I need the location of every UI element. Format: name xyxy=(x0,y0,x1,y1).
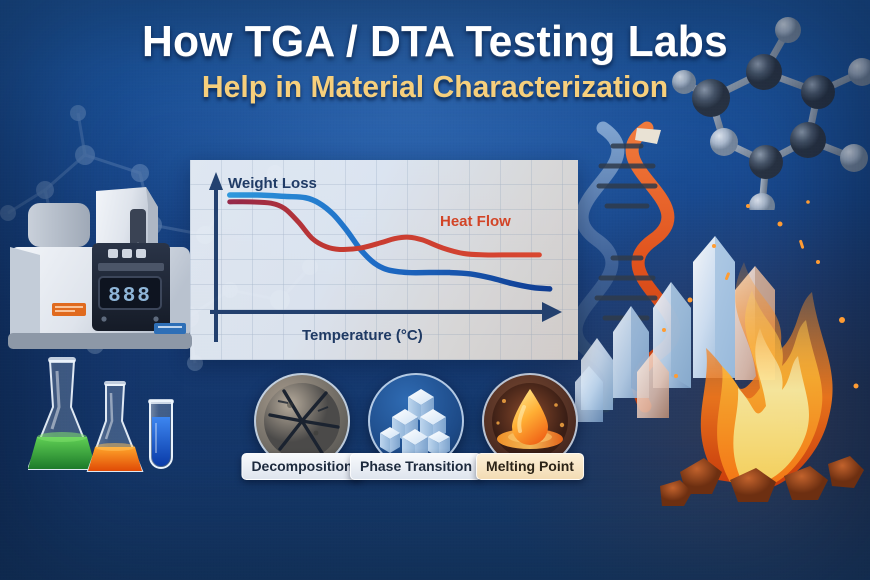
flame-burst-icon xyxy=(660,180,870,510)
badge-label-decomposition[interactable]: Decomposition xyxy=(241,453,362,480)
test-tube xyxy=(148,399,174,468)
x-axis-arrow xyxy=(210,302,562,322)
heat-flow-legend-label: Heat Flow xyxy=(440,213,511,230)
title-block: How TGA / DTA Testing Labs Help in Mater… xyxy=(0,20,870,103)
erlenmeyer-flask-small xyxy=(88,381,142,471)
page-subtitle: Help in Material Characterization xyxy=(13,71,857,104)
badge-label-phase-transition[interactable]: Phase Transition xyxy=(350,453,482,480)
chart-plot: Weight Loss Temperature (°C) Heat Flow xyxy=(190,160,578,360)
y-axis-label: Weight Loss xyxy=(228,175,317,192)
instrument-display-value: 888 xyxy=(108,285,152,308)
x-axis-label: Temperature (°C) xyxy=(302,327,423,344)
badge-decomposition[interactable]: Decomposition xyxy=(247,373,357,469)
infographic-banner: How TGA / DTA Testing Labs Help in Mater… xyxy=(0,0,870,580)
erlenmeyer-flask-large xyxy=(28,357,96,469)
badge-phase-transition[interactable]: Phase Transition xyxy=(361,373,471,469)
page-title: How TGA / DTA Testing Labs xyxy=(13,20,857,65)
badge-melting-point[interactable]: Melting Point xyxy=(475,373,585,469)
feature-badge-row: Decomposition xyxy=(247,373,607,491)
badge-label-melting-point[interactable]: Melting Point xyxy=(476,453,584,480)
tga-dta-chart-panel: Weight Loss Temperature (°C) Heat Flow xyxy=(190,160,578,360)
glassware-group xyxy=(28,355,188,495)
